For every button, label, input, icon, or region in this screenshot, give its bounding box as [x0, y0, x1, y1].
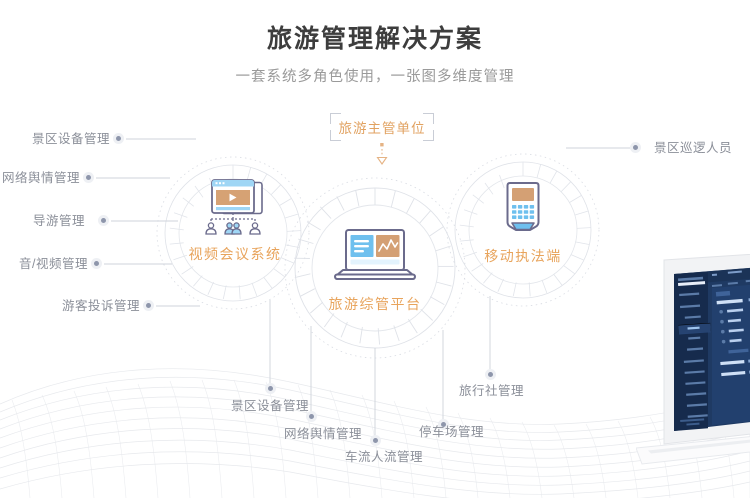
authority-badge[interactable]: 旅游主管单位 [330, 113, 434, 141]
left-label-2[interactable]: 导游管理 [33, 214, 85, 228]
video-conference-icon [175, 178, 295, 236]
left-dot-1 [83, 172, 94, 183]
bottom-label-2[interactable]: 车流人流管理 [345, 450, 423, 464]
chevron-down-dotted-icon [374, 143, 390, 165]
left-label-0[interactable]: 景区设备管理 [32, 132, 110, 146]
solution-diagram-page: 旅游管理解决方案 一套系统多角色使用，一张图多维度管理 [0, 0, 750, 498]
laptop-dashboard-icon [315, 228, 435, 286]
page-title: 旅游管理解决方案 [0, 22, 750, 56]
authority-badge-label: 旅游主管单位 [330, 113, 434, 141]
bottom-label-0[interactable]: 景区设备管理 [231, 399, 309, 413]
bottom-dot-0 [265, 383, 276, 394]
background-wave-mesh [0, 308, 750, 498]
left-dot-3 [91, 258, 102, 269]
hub-tourism-platform[interactable]: 旅游综管平台 [315, 228, 435, 314]
hub-video-conference[interactable]: 视频会议系统 [175, 178, 295, 264]
hub-label-tourism-platform: 旅游综管平台 [315, 294, 435, 314]
left-dot-2 [98, 215, 109, 226]
hub-mobile-enforcement[interactable]: 移动执法端 [463, 180, 583, 266]
right-dot-0 [630, 142, 641, 153]
left-label-4[interactable]: 游客投诉管理 [62, 299, 140, 313]
hub-label-mobile-enforcement: 移动执法端 [463, 246, 583, 266]
right-label-0[interactable]: 景区巡逻人员 [654, 141, 732, 155]
left-dot-0 [113, 133, 124, 144]
header: 旅游管理解决方案 一套系统多角色使用，一张图多维度管理 [0, 22, 750, 87]
handheld-terminal-icon [463, 180, 583, 238]
bottom-label-4[interactable]: 旅行社管理 [459, 384, 524, 398]
bottom-dot-2 [370, 435, 381, 446]
bottom-label-3[interactable]: 停车场管理 [419, 425, 484, 439]
bottom-dot-1 [306, 411, 317, 422]
left-dot-4 [143, 300, 154, 311]
hub-label-video-conference: 视频会议系统 [175, 244, 295, 264]
laptop-dashboard-mockup [636, 252, 750, 498]
left-label-3[interactable]: 音/视频管理 [19, 257, 88, 271]
page-subtitle: 一套系统多角色使用，一张图多维度管理 [0, 67, 750, 87]
bottom-dot-4 [485, 369, 496, 380]
left-label-1[interactable]: 网络舆情管理 [2, 171, 80, 185]
bottom-label-1[interactable]: 网络舆情管理 [284, 427, 362, 441]
